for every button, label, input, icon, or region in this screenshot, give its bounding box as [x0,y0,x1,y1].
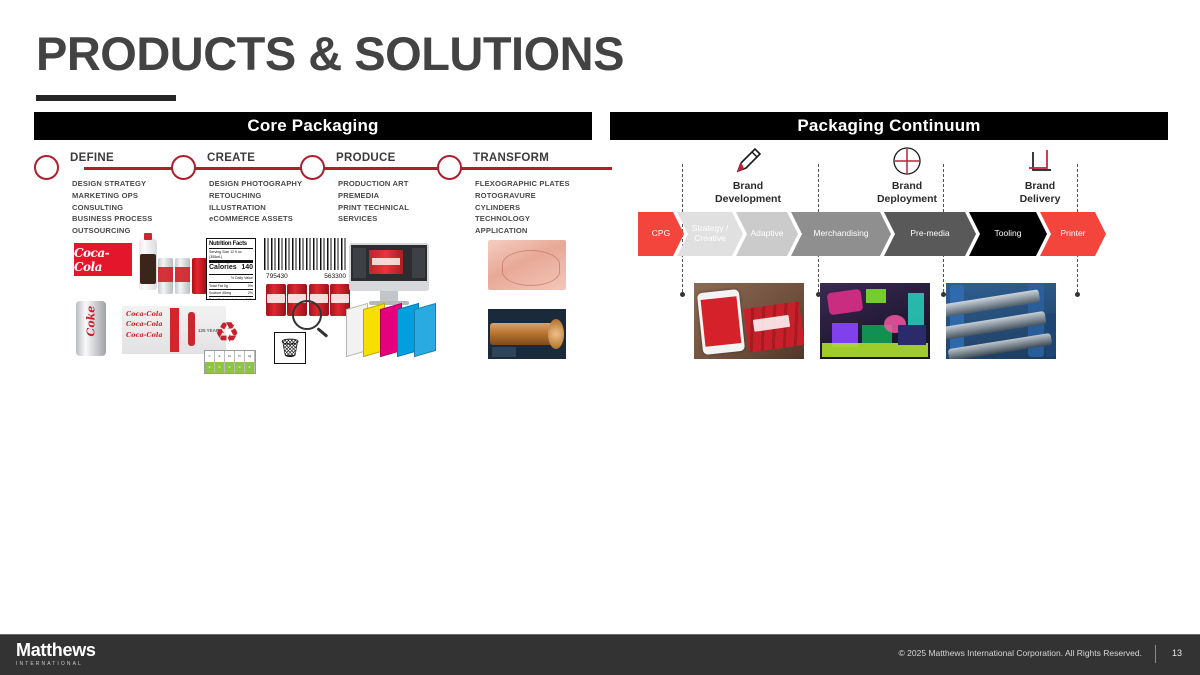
stage-title: TRANSFORM [473,152,549,164]
copyright-text: © 2025 Matthews International Corporatio… [899,648,1142,658]
chevron-printer[interactable]: Printer [1040,212,1106,256]
stage-service-list: FLEXOGRAPHIC PLATES ROTOGRAVURE CYLINDER… [475,178,570,237]
pencil-icon [673,140,823,178]
footer-vertical-divider [1155,645,1156,663]
brand-group-label: Brand Development [673,180,823,205]
list-item: ROTOGRAVURE [475,190,570,202]
magnifier-icon [292,300,322,330]
brand-group-label: Brand Delivery [965,180,1115,205]
crop-mark-icon [965,140,1115,178]
list-item: PRINT TECHNICAL [338,202,409,214]
core-packaging-header: Core Packaging [34,112,592,140]
barcode-right-digits: 563300 [324,273,346,280]
list-item: DESIGN PHOTOGRAPHY [209,178,302,190]
chevron-label: Merchandising [813,229,868,239]
circle-plus-icon [832,140,982,178]
chevron-label: Tooling [995,229,1022,239]
logo-primary-text: Matthews [16,641,96,659]
colorful-retail-merchandising-photo [820,283,930,359]
footer-top-divider [0,634,1200,635]
chevron-label: Adaptive [750,229,783,239]
diet-coke-label: Coke [85,307,98,337]
barcode-left-digits: 795430 [266,273,288,280]
page-number: 13 [1172,648,1182,658]
slide-footer: Matthews INTERNATIONAL © 2025 Matthews I… [0,634,1200,675]
nutrition-row: Total Carbohydrate 39g14% [209,298,253,300]
chevron-merchandising[interactable]: Merchandising [791,212,891,256]
recycle-symbol-icon: ♻ [206,316,248,350]
chevron-adaptive[interactable]: Adaptive [736,212,798,256]
stage-title: DEFINE [70,152,114,164]
nutrition-calories-value: 140 [241,264,253,273]
list-item: APPLICATION [475,225,570,237]
chevron-strategy-creative[interactable]: Strategy /Creative [677,212,743,256]
list-item: DESIGN STRATEGY [72,178,152,190]
chevron-label: Pre-media [910,229,949,239]
chevron-label: Strategy /Creative [692,224,728,244]
list-item: PREMEDIA [338,190,409,202]
stage-service-list: DESIGN PHOTOGRAPHY RETOUCHING ILLUSTRATI… [209,178,302,225]
logo-secondary-text: INTERNATIONAL [16,661,96,667]
eco-label-image: CEFePtHg RRRRR [204,350,256,374]
brand-group-delivery[interactable]: Brand Delivery [965,140,1115,205]
monitor-screen [351,245,427,281]
timeline-connector-line [84,167,612,170]
brand-group-deployment[interactable]: Brand Deployment [832,140,982,205]
cmyk-printing-plates-image [346,306,436,358]
nutrition-facts-label-image: Nutrition Facts Serving Size 12 fl oz (3… [206,238,256,300]
stage-node-circle [437,155,462,180]
flexographic-plate-image [488,240,566,290]
list-item: CONSULTING [72,202,152,214]
brand-group-label: Brand Deployment [832,180,982,205]
stage-service-list: DESIGN STRATEGY MARKETING OPS CONSULTING… [72,178,152,237]
nutrition-row: Sodium 45mg2% [209,291,253,295]
stage-node-circle [34,155,59,180]
chevron-label: CPG [652,229,670,239]
list-item: FLEXOGRAPHIC PLATES [475,178,570,190]
list-item: RETOUCHING [209,190,302,202]
nutrition-dv-header: % Daily Value [231,276,253,280]
matthews-logo: Matthews INTERNATIONAL [16,641,96,667]
nutrition-row: Total Fat 0g0% [209,284,253,288]
list-item: PRODUCTION ART [338,178,409,190]
core-packaging-imagery: Coca-Cola Coke Coca-ColaCoca-ColaCoca-Co… [34,238,592,378]
barcode-bars [264,238,348,270]
do-not-litter-icon: 🗑 [274,332,306,364]
chevron-tooling[interactable]: Tooling [969,212,1047,256]
stage-title: CREATE [207,152,255,164]
list-item: eCOMMERCE ASSETS [209,213,302,225]
brand-group-development[interactable]: Brand Development [673,140,823,205]
barcode-image: 795430 563300 [264,238,348,280]
list-item: BUSINESS PROCESS [72,213,152,225]
stage-node-circle [300,155,325,180]
coke-bottle-image [139,238,157,290]
continuum-chevron-flow: CPG Strategy /Creative Adaptive Merchand… [638,212,1099,256]
continuum-photo-strip [694,283,1056,359]
list-item: OUTSOURCING [72,225,152,237]
list-item: ILLUSTRATION [209,202,302,214]
page-title: PRODUCTS & SOLUTIONS [36,30,624,77]
printing-press-rollers-photo [946,283,1056,359]
packaging-continuum-diagram: Brand Development Brand Deployment [610,140,1168,380]
chevron-cpg[interactable]: CPG [638,212,684,256]
diet-coke-can-image: Coke [76,301,106,356]
chevron-label: Printer [1060,229,1085,239]
list-item: CYLINDERS [475,202,570,214]
coca-cola-logo-text: Coca-Cola [74,246,132,274]
nutrition-title: Nutrition Facts [209,241,253,247]
core-packaging-header-label: Core Packaging [247,116,378,136]
list-item: TECHNOLOGY [475,213,570,225]
rotogravure-cylinder-image [488,309,566,359]
list-item: MARKETING OPS [72,190,152,202]
stage-node-circle [171,155,196,180]
kitkat-mobile-packaging-photo [694,283,804,359]
packaging-continuum-header: Packaging Continuum [610,112,1168,140]
title-underline-rule [36,95,176,101]
desktop-monitor-image [349,243,429,291]
coca-cola-logo-image: Coca-Cola [74,243,132,276]
packaging-continuum-header-label: Packaging Continuum [797,116,980,136]
nutrition-calories-label: Calories [209,264,237,273]
chevron-pre-media[interactable]: Pre-media [884,212,976,256]
stage-title: PRODUCE [336,152,396,164]
slide-canvas: PRODUCTS & SOLUTIONS Core Packaging DEFI… [0,0,1200,675]
list-item: SERVICES [338,213,409,225]
stage-service-list: PRODUCTION ART PREMEDIA PRINT TECHNICAL … [338,178,409,225]
nutrition-serving: Serving Size 12 fl oz (355mL) [209,250,253,259]
